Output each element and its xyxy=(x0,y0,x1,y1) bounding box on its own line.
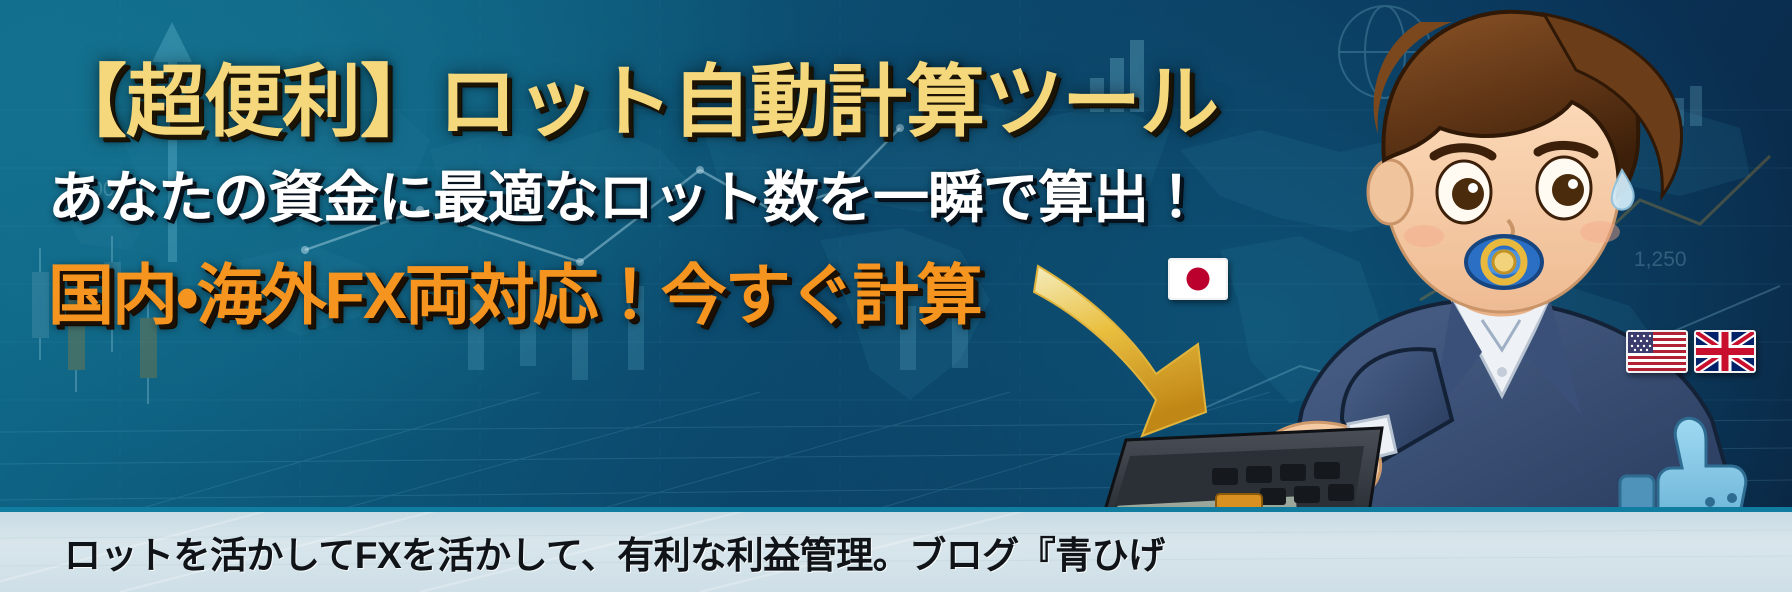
footer-tagline: ロットを活かしてFXを活かして、有利な利益管理。ブログ『青ひげ xyxy=(64,525,1165,579)
flag-usa-icon xyxy=(1626,330,1688,373)
subheadline: あなたの資金に最適なロット数を一瞬で算出！ xyxy=(48,169,1208,228)
footer-bar: ロットを活かしてFXを活かして、有利な利益管理。ブログ『青ひげ xyxy=(0,507,1792,592)
page-title: 【超便利】ロット自動計算ツール xyxy=(48,62,1208,143)
flag-japan-icon xyxy=(1168,258,1228,300)
fx-lot-calculator-banner: 1,000 1,250 【超便利】ロット自動計算ツール あなたの資金に最適なロッ… xyxy=(0,0,1792,592)
flag-uk-icon xyxy=(1694,330,1756,373)
